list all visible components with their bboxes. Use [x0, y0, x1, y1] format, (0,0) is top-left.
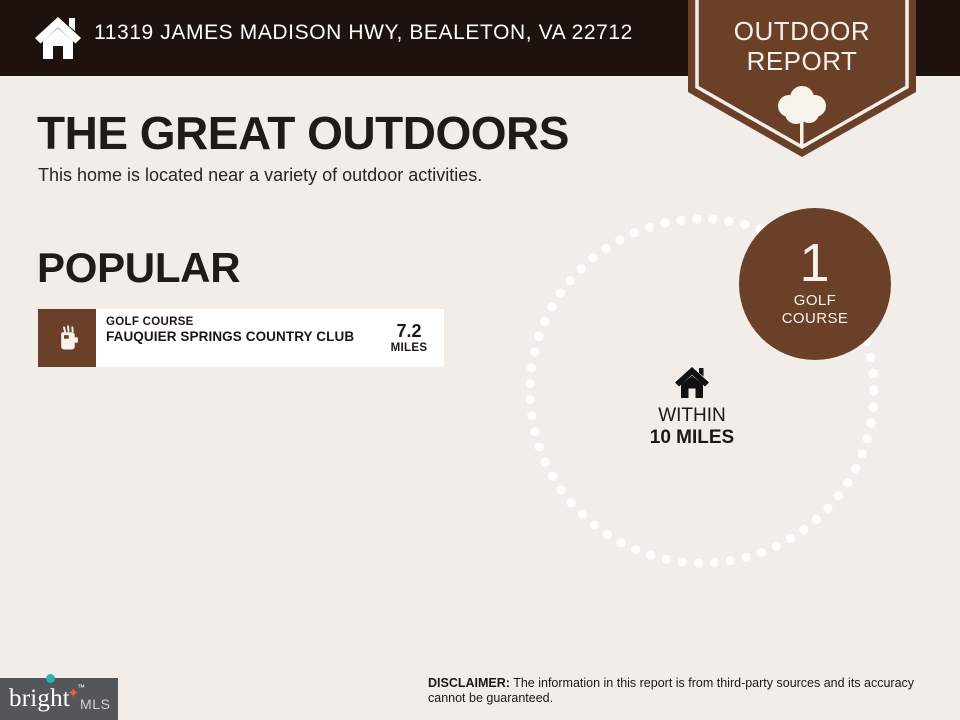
logo-wordmark: bright — [9, 685, 70, 713]
list-item-distance-unit: MILES — [374, 341, 444, 355]
list-item-name: FAUQUIER SPRINGS COUNTRY CLUB — [106, 329, 368, 344]
outdoor-report-page: 11319 JAMES MADISON HWY, BEALETON, VA 22… — [0, 0, 960, 720]
count-bubble-value: 1 — [739, 208, 891, 292]
list-item[interactable]: GOLF COURSE FAUQUIER SPRINGS COUNTRY CLU… — [38, 309, 444, 367]
golf-bag-icon — [38, 309, 96, 367]
radius-distance-label: 10 MILES — [627, 427, 757, 449]
logo-dot-icon — [46, 674, 55, 683]
count-bubble-label-line2: COURSE — [739, 310, 891, 328]
count-bubble-label-line1: GOLF — [739, 292, 891, 310]
list-item-category: GOLF COURSE — [106, 315, 368, 329]
badge-title-line2: REPORT — [688, 46, 916, 76]
home-icon — [674, 365, 710, 399]
center-marker: WITHIN 10 MILES — [627, 365, 757, 449]
badge-title: OUTDOOR REPORT — [688, 16, 916, 76]
popular-list: GOLF COURSE FAUQUIER SPRINGS COUNTRY CLU… — [38, 309, 444, 373]
disclaimer: DISCLAIMER: The information in this repo… — [428, 676, 928, 706]
tree-icon — [772, 84, 832, 146]
bright-mls-logo: bright ✦ ™ MLS — [0, 678, 118, 720]
home-icon — [32, 12, 84, 64]
property-address: 11319 JAMES MADISON HWY, BEALETON, VA 22… — [94, 21, 633, 45]
outdoor-report-badge: OUTDOOR REPORT — [688, 0, 916, 158]
section-heading-popular: POPULAR — [37, 244, 240, 292]
logo-suffix: MLS — [80, 696, 111, 712]
disclaimer-label: DISCLAIMER: — [428, 676, 510, 690]
page-title: THE GREAT OUTDOORS — [37, 106, 569, 160]
radius-within-label: WITHIN — [627, 405, 757, 427]
count-bubble-label: GOLF COURSE — [739, 292, 891, 328]
list-item-text: GOLF COURSE FAUQUIER SPRINGS COUNTRY CLU… — [96, 309, 374, 367]
badge-title-line1: OUTDOOR — [688, 16, 916, 46]
list-item-distance-value: 7.2 — [374, 321, 444, 341]
count-bubble-golf-course: 1 GOLF COURSE — [739, 208, 891, 360]
list-item-distance: 7.2 MILES — [374, 309, 444, 367]
page-subtitle: This home is located near a variety of o… — [38, 165, 482, 186]
logo-trademark: ™ — [77, 683, 85, 692]
